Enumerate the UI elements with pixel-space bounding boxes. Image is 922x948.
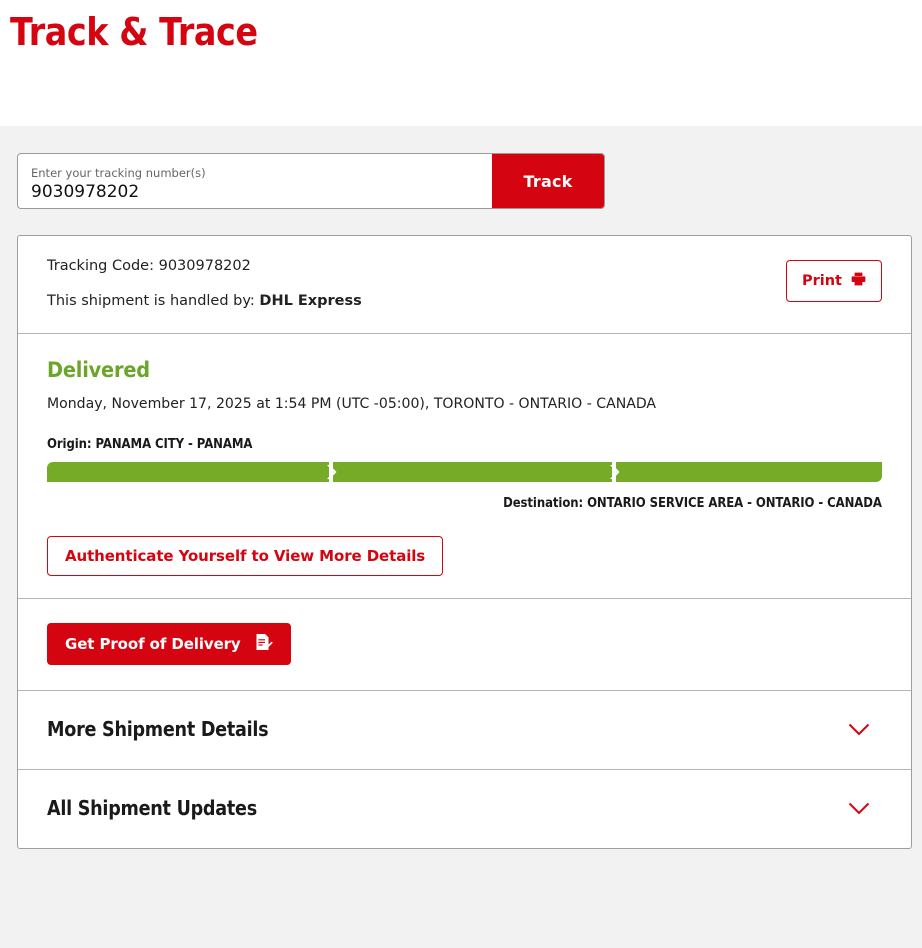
chevron-right-icon bbox=[325, 462, 339, 482]
status-badge: Delivered bbox=[47, 358, 815, 382]
chevron-down-icon[interactable] bbox=[848, 723, 870, 736]
authenticate-button[interactable]: Authenticate Yourself to View More Detai… bbox=[47, 536, 443, 576]
proof-of-delivery-section: Get Proof of Delivery bbox=[18, 599, 911, 690]
pod-button-label: Get Proof of Delivery bbox=[65, 635, 241, 653]
handled-by-prefix: This shipment is handled by: bbox=[47, 293, 255, 309]
document-pen-icon bbox=[254, 633, 273, 656]
destination-label: Destination: ONTARIO SERVICE AREA - ONTA… bbox=[503, 496, 882, 511]
page-title: Track & Trace bbox=[10, 10, 258, 56]
tracking-result-card: Tracking Code: 9030978202 This shipment … bbox=[17, 235, 912, 849]
page-body: Enter your tracking number(s) Track Trac… bbox=[0, 153, 922, 948]
track-button[interactable]: Track bbox=[492, 154, 604, 208]
card-header-section: Tracking Code: 9030978202 This shipment … bbox=[18, 236, 911, 333]
chevron-down-icon[interactable] bbox=[848, 802, 870, 815]
shipment-summary: Tracking Code: 9030978202 This shipment … bbox=[47, 256, 362, 311]
accordion-all-shipment-updates[interactable]: All Shipment Updates bbox=[18, 770, 911, 848]
origin-label: Origin: PANAMA CITY - PANAMA bbox=[47, 437, 799, 452]
print-button-label: Print bbox=[802, 273, 842, 289]
progress-segment-3 bbox=[616, 462, 882, 482]
progress-segment-2 bbox=[333, 462, 612, 482]
accordion-title: More Shipment Details bbox=[47, 717, 268, 741]
tracking-search-bar: Enter your tracking number(s) Track bbox=[17, 153, 605, 209]
printer-icon bbox=[851, 272, 866, 290]
shipment-progress-bar bbox=[47, 460, 882, 486]
get-proof-of-delivery-button[interactable]: Get Proof of Delivery bbox=[47, 623, 291, 665]
accordion-more-shipment-details[interactable]: More Shipment Details bbox=[18, 691, 911, 769]
destination-row: Destination: ONTARIO SERVICE AREA - ONTA… bbox=[47, 494, 882, 512]
shipment-status-section: Delivered Monday, November 17, 2025 at 1… bbox=[18, 334, 911, 598]
search-input[interactable] bbox=[31, 181, 480, 203]
chevron-right-icon bbox=[608, 462, 622, 482]
progress-segment-1 bbox=[47, 462, 329, 482]
tracking-code-text: Tracking Code: 9030978202 bbox=[47, 256, 362, 276]
tracking-number-field[interactable]: Enter your tracking number(s) bbox=[18, 154, 492, 208]
print-button[interactable]: Print bbox=[786, 260, 882, 302]
page-header: Track & Trace bbox=[0, 0, 922, 126]
accordion-title: All Shipment Updates bbox=[47, 796, 257, 820]
handled-by-text: This shipment is handled by: DHL Express bbox=[47, 291, 362, 311]
status-timestamp-location: Monday, November 17, 2025 at 1:54 PM (UT… bbox=[47, 396, 857, 412]
handled-by-carrier: DHL Express bbox=[259, 293, 361, 309]
tracking-number-label: Enter your tracking number(s) bbox=[31, 166, 480, 180]
